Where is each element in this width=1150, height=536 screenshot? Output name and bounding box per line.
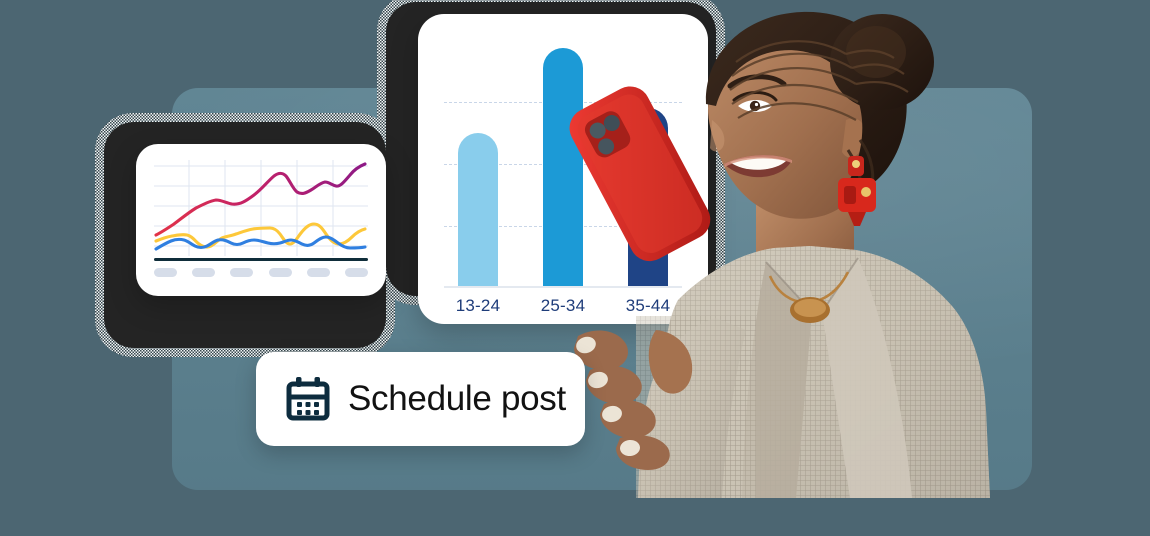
line-chart-axis [154,258,368,261]
eyebrow [730,77,784,86]
bar-label-0: 13-24 [450,296,506,316]
line-chart-svg [154,160,368,256]
bar-chart-bars [444,40,682,286]
schedule-post-label: Schedule post [348,379,566,419]
tick-placeholder [154,268,177,277]
tick-placeholder [307,268,330,277]
bar-chart-plot [444,40,682,288]
bar-chart-tick-labels: 13-24 25-34 35-44 [444,296,682,316]
tick-placeholder [192,268,215,277]
tick-placeholder [230,268,253,277]
bar-label-1: 25-34 [535,296,591,316]
bar-35-44 [628,108,668,286]
tick-placeholder [269,268,292,277]
line-chart-plot [154,160,368,256]
calendar-icon [286,377,330,421]
bar-13-24 [458,133,498,286]
composition-stage: 13-24 25-34 35-44 [0,0,1150,536]
line-chart-card [136,144,386,296]
bar-25-34 [543,48,583,286]
bar-chart-card: 13-24 25-34 35-44 [418,14,708,324]
calendar-icon-svg [286,377,330,421]
schedule-post-button[interactable]: Schedule post [256,352,585,446]
bar-chart-baseline [444,286,682,288]
bar-label-2: 35-44 [620,296,676,316]
tick-placeholder [345,268,368,277]
line-chart-tick-placeholders [154,268,368,277]
